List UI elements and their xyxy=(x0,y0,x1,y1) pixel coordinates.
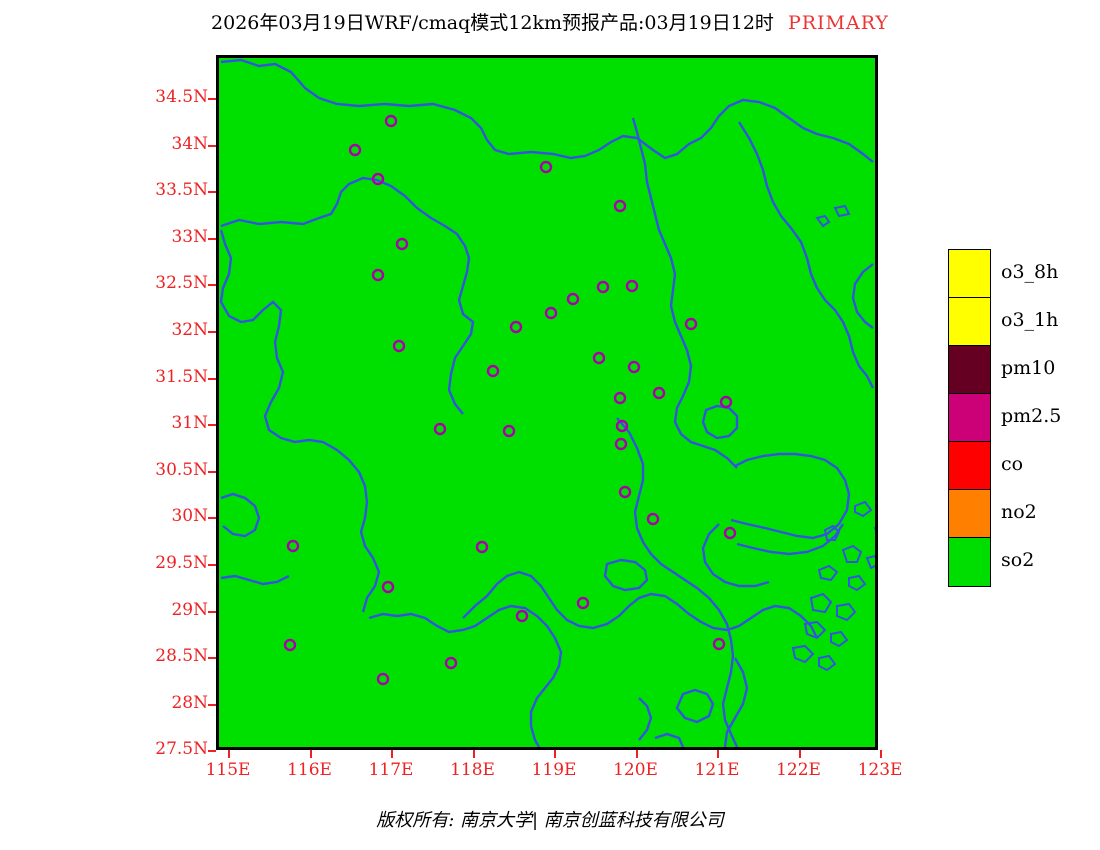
latitude-tick xyxy=(208,98,216,100)
station-marker[interactable] xyxy=(517,611,527,621)
station-marker[interactable] xyxy=(654,388,664,398)
longitude-label: 118E xyxy=(433,762,513,779)
latitude-label: 28.5N xyxy=(155,648,208,665)
station-marker[interactable] xyxy=(616,439,626,449)
legend-item[interactable]: so2 xyxy=(949,538,990,586)
longitude-tick xyxy=(473,750,475,758)
station-marker[interactable] xyxy=(288,541,298,551)
legend-color-swatch xyxy=(949,442,990,490)
latitude-label: 32.5N xyxy=(155,275,208,292)
station-marker[interactable] xyxy=(627,281,637,291)
latitude-label: 33.5N xyxy=(155,182,208,199)
title-main-text: 2026年03月19日WRF/cmaq模式12km预报产品:03月19日12时 xyxy=(211,12,774,34)
station-marker[interactable] xyxy=(386,116,396,126)
longitude-tick xyxy=(391,750,393,758)
latitude-label: 27.5N xyxy=(155,741,208,758)
legend-color-swatch xyxy=(949,394,990,442)
longitude-tick xyxy=(636,750,638,758)
legend-color-swatch xyxy=(949,490,990,538)
station-marker[interactable] xyxy=(615,201,625,211)
longitude-label: 119E xyxy=(514,762,594,779)
station-marker[interactable] xyxy=(629,362,639,372)
longitude-tick xyxy=(228,750,230,758)
station-marker[interactable] xyxy=(615,393,625,403)
station-marker[interactable] xyxy=(350,145,360,155)
station-marker[interactable] xyxy=(378,674,388,684)
latitude-tick xyxy=(208,378,216,380)
legend-item[interactable]: pm2.5 xyxy=(949,394,990,442)
latitude-label: 34.5N xyxy=(155,89,208,106)
latitude-label: 30.5N xyxy=(155,462,208,479)
legend-color-swatch xyxy=(949,250,990,298)
legend-item-label: o3_8h xyxy=(1001,261,1058,283)
station-marker[interactable] xyxy=(620,487,630,497)
latitude-label: 30N xyxy=(171,508,208,525)
station-marker[interactable] xyxy=(504,426,514,436)
legend-item-label: no2 xyxy=(1001,501,1037,523)
latitude-label: 31N xyxy=(171,415,208,432)
legend-item[interactable]: no2 xyxy=(949,490,990,538)
longitude-tick xyxy=(554,750,556,758)
latitude-label: 31.5N xyxy=(155,369,208,386)
latitude-label: 28N xyxy=(171,695,208,712)
longitude-label: 116E xyxy=(270,762,350,779)
legend-item[interactable]: o3_1h xyxy=(949,298,990,346)
latitude-label: 32N xyxy=(171,322,208,339)
latitude-tick xyxy=(208,145,216,147)
station-marker[interactable] xyxy=(598,282,608,292)
station-marker[interactable] xyxy=(721,397,731,407)
station-marker[interactable] xyxy=(594,353,604,363)
station-marker[interactable] xyxy=(511,322,521,332)
legend-color-swatch xyxy=(949,298,990,346)
latitude-tick xyxy=(208,750,216,752)
legend-panel[interactable]: o3_8ho3_1hpm10pm2.5cono2so2 xyxy=(948,249,991,587)
legend-color-swatch xyxy=(949,538,990,586)
legend-item[interactable]: co xyxy=(949,442,990,490)
legend-item-label: pm10 xyxy=(1001,357,1055,379)
forecast-map-page: 2026年03月19日WRF/cmaq模式12km预报产品:03月19日12时P… xyxy=(0,0,1100,850)
latitude-tick xyxy=(208,611,216,613)
legend-item-label: o3_1h xyxy=(1001,309,1058,331)
latitude-label: 34N xyxy=(171,136,208,153)
station-marker[interactable] xyxy=(541,162,551,172)
longitude-label: 117E xyxy=(351,762,431,779)
copyright-footer: 版权所有: 南京大学| 南京创蓝科技有限公司 xyxy=(0,806,1100,832)
latitude-label: 29.5N xyxy=(155,555,208,572)
map-plot-area[interactable] xyxy=(216,55,878,750)
station-marker[interactable] xyxy=(686,319,696,329)
legend-item[interactable]: pm10 xyxy=(949,346,990,394)
latitude-axis: 34.5N34N33.5N33N32.5N32N31.5N31N30.5N30N… xyxy=(96,0,208,850)
legend-item-label: co xyxy=(1001,453,1023,475)
station-marker[interactable] xyxy=(397,239,407,249)
longitude-tick xyxy=(880,750,882,758)
legend-item[interactable]: o3_8h xyxy=(949,250,990,298)
longitude-tick xyxy=(799,750,801,758)
title-primary-badge: PRIMARY xyxy=(788,12,889,34)
latitude-tick xyxy=(208,704,216,706)
latitude-tick xyxy=(208,657,216,659)
station-marker[interactable] xyxy=(435,424,445,434)
latitude-tick xyxy=(208,191,216,193)
latitude-tick xyxy=(208,517,216,519)
legend-color-swatch xyxy=(949,346,990,394)
longitude-label: 123E xyxy=(840,762,920,779)
station-marker[interactable] xyxy=(285,640,295,650)
station-marker[interactable] xyxy=(383,582,393,592)
map-vector-layer xyxy=(219,58,875,747)
longitude-label: 122E xyxy=(759,762,839,779)
latitude-label: 29N xyxy=(171,602,208,619)
latitude-tick xyxy=(208,564,216,566)
legend-item-label: pm2.5 xyxy=(1001,405,1061,427)
station-marker[interactable] xyxy=(568,294,578,304)
station-marker[interactable] xyxy=(578,598,588,608)
latitude-label: 33N xyxy=(171,229,208,246)
station-marker[interactable] xyxy=(546,308,556,318)
station-marker[interactable] xyxy=(488,366,498,376)
station-marker[interactable] xyxy=(477,542,487,552)
longitude-tick xyxy=(717,750,719,758)
station-marker[interactable] xyxy=(394,341,404,351)
latitude-tick xyxy=(208,331,216,333)
station-marker[interactable] xyxy=(648,514,658,524)
latitude-tick xyxy=(208,284,216,286)
longitude-tick xyxy=(310,750,312,758)
latitude-tick xyxy=(208,238,216,240)
longitude-label: 115E xyxy=(188,762,268,779)
latitude-tick xyxy=(208,424,216,426)
latitude-tick xyxy=(208,471,216,473)
station-marker[interactable] xyxy=(714,639,724,649)
longitude-label: 121E xyxy=(677,762,757,779)
station-marker[interactable] xyxy=(725,528,735,538)
legend-item-label: so2 xyxy=(1001,549,1034,571)
station-marker[interactable] xyxy=(446,658,456,668)
station-marker[interactable] xyxy=(373,270,383,280)
longitude-label: 120E xyxy=(596,762,676,779)
